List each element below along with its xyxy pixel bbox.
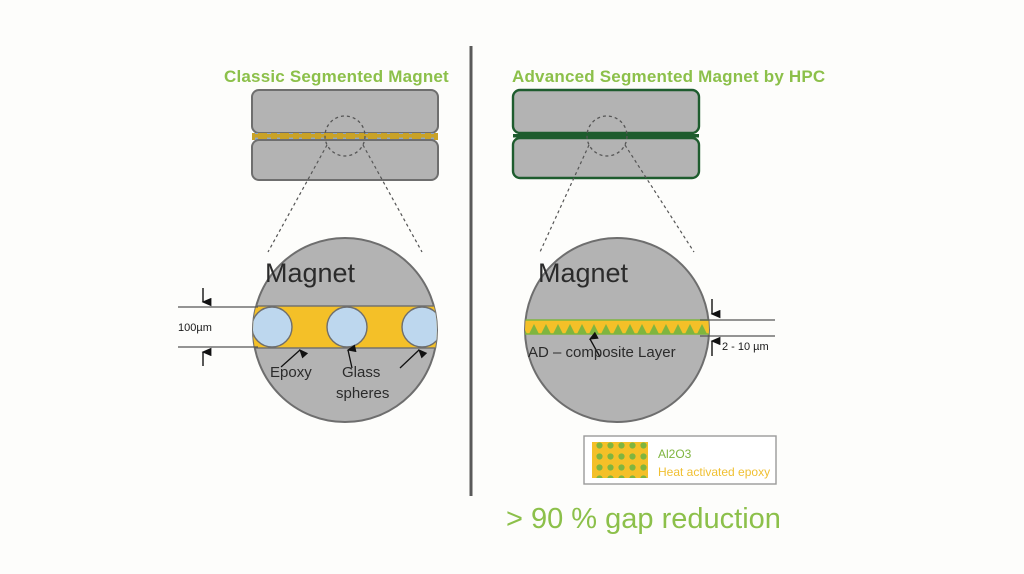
left-glass-sphere xyxy=(327,307,367,347)
legend-label-alumina: Al2O3 xyxy=(658,447,692,461)
left-panel-title: Classic Segmented Magnet xyxy=(224,67,449,86)
left-magnet-block-upper xyxy=(252,90,438,133)
right-magnet-block-upper xyxy=(513,90,699,133)
right-panel-title: Advanced Segmented Magnet by HPC xyxy=(512,67,825,86)
diagram-svg: Classic Segmented Magnet Magnet 100µm xyxy=(0,0,1024,574)
right-dimension-label: 2 - 10 µm xyxy=(722,341,769,353)
left-detail-interlayer-group xyxy=(240,306,455,348)
legend-label-epoxy: Heat activated epoxy xyxy=(658,465,770,479)
left-callout-label-glass-line1: Glass xyxy=(342,364,380,381)
legend-box: Al2O3 Heat activated epoxy xyxy=(584,436,776,484)
left-magnet-label: Magnet xyxy=(265,258,356,288)
right-magnet-label: Magnet xyxy=(538,258,629,288)
right-detail-composite-band xyxy=(512,320,727,334)
legend-swatch-alumina xyxy=(592,442,648,478)
left-epoxy-interlayer xyxy=(252,133,438,140)
left-dimension-label: 100µm xyxy=(178,322,212,334)
right-magnet-block-lower xyxy=(513,138,699,178)
right-detail-interlayer-group xyxy=(512,320,727,334)
slide-canvas: Classic Segmented Magnet Magnet 100µm xyxy=(0,0,1024,574)
left-callout-label-epoxy: Epoxy xyxy=(270,364,312,381)
footer-claim: > 90 % gap reduction xyxy=(506,503,781,535)
right-callout-label-composite: AD – composite Layer xyxy=(528,344,676,361)
left-magnet-block-lower xyxy=(252,140,438,180)
left-glass-sphere xyxy=(252,307,292,347)
left-callout-label-glass-line2: spheres xyxy=(336,385,389,402)
